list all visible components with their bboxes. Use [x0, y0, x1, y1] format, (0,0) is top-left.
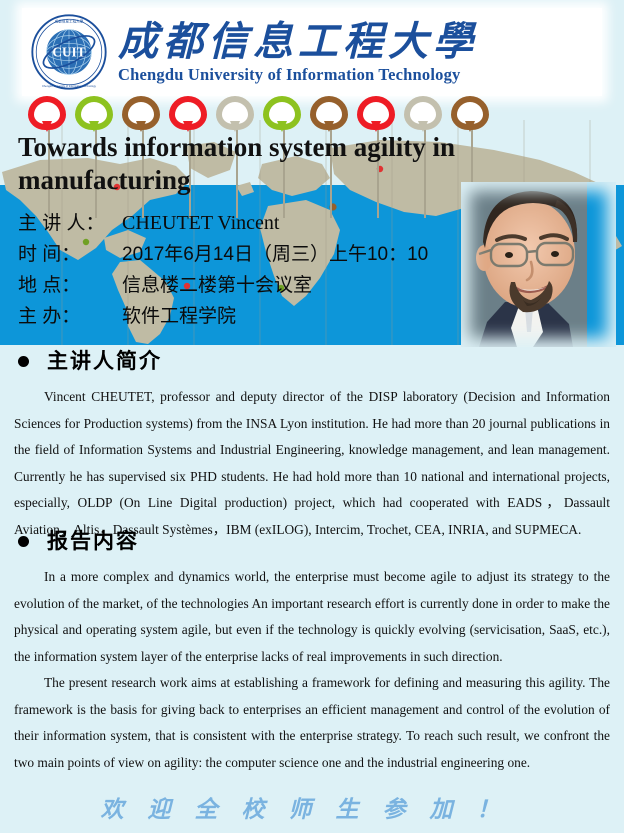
info-label: 主 讲 人： — [18, 208, 122, 239]
university-name-cn: 成都信息工程大學 — [118, 20, 602, 64]
info-value: 信息楼二楼第十会议室 — [122, 270, 312, 301]
svg-text:CUIT: CUIT — [52, 45, 85, 60]
report-content-heading: 报告内容 — [18, 528, 624, 554]
poster-title: Towards information system agility in ma… — [18, 131, 498, 197]
info-label: 时 间： — [18, 239, 122, 270]
poster-root: CUIT 成都信息工程大學 Chengdu University of Info… — [0, 0, 624, 833]
bullet-icon — [18, 356, 29, 367]
speaker-bio-text: Vincent CHEUTET, professor and deputy di… — [14, 384, 610, 543]
cuit-logo-icon: CUIT 成都信息工程大學 Chengdu University of Info… — [30, 13, 108, 91]
info-label: 地 点： — [18, 270, 122, 301]
svg-text:成都信息工程大學: 成都信息工程大學 — [55, 18, 84, 23]
section-heading-text: 报告内容 — [47, 528, 139, 554]
info-value: CHEUTET Vincent — [122, 208, 279, 239]
info-row-location: 地 点： 信息楼二楼第十会议室 — [18, 270, 488, 301]
report-content-section: 报告内容 In a more complex and dynamics worl… — [0, 528, 624, 776]
university-banner: CUIT 成都信息工程大學 Chengdu University of Info… — [22, 8, 602, 96]
report-paragraph-2: The present research work aims at establ… — [14, 670, 610, 776]
event-info-list: 主 讲 人： CHEUTET Vincent 时 间： 2017年6月14日（周… — [18, 208, 488, 332]
speaker-portrait-photo — [461, 182, 616, 347]
section-heading-text: 主讲人简介 — [47, 348, 162, 374]
info-row-speaker: 主 讲 人： CHEUTET Vincent — [18, 208, 488, 239]
university-name-en: Chengdu University of Information Techno… — [118, 65, 602, 84]
bullet-icon — [18, 536, 29, 547]
info-row-time: 时 间： 2017年6月14日（周三）上午10：10 — [18, 239, 488, 270]
info-value: 软件工程学院 — [122, 301, 236, 332]
report-paragraph-1: In a more complex and dynamics world, th… — [14, 564, 610, 670]
speaker-bio-section: 主讲人简介 Vincent CHEUTET, professor and dep… — [0, 348, 624, 543]
info-label: 主 办： — [18, 301, 122, 332]
info-value: 2017年6月14日（周三）上午10：10 — [122, 239, 428, 270]
welcome-line: 欢迎全校师生参加！ — [0, 790, 624, 824]
speaker-bio-heading: 主讲人简介 — [18, 348, 624, 374]
info-row-organizer: 主 办： 软件工程学院 — [18, 301, 488, 332]
svg-text:Chengdu University of Informat: Chengdu University of Information Techno… — [42, 84, 97, 88]
